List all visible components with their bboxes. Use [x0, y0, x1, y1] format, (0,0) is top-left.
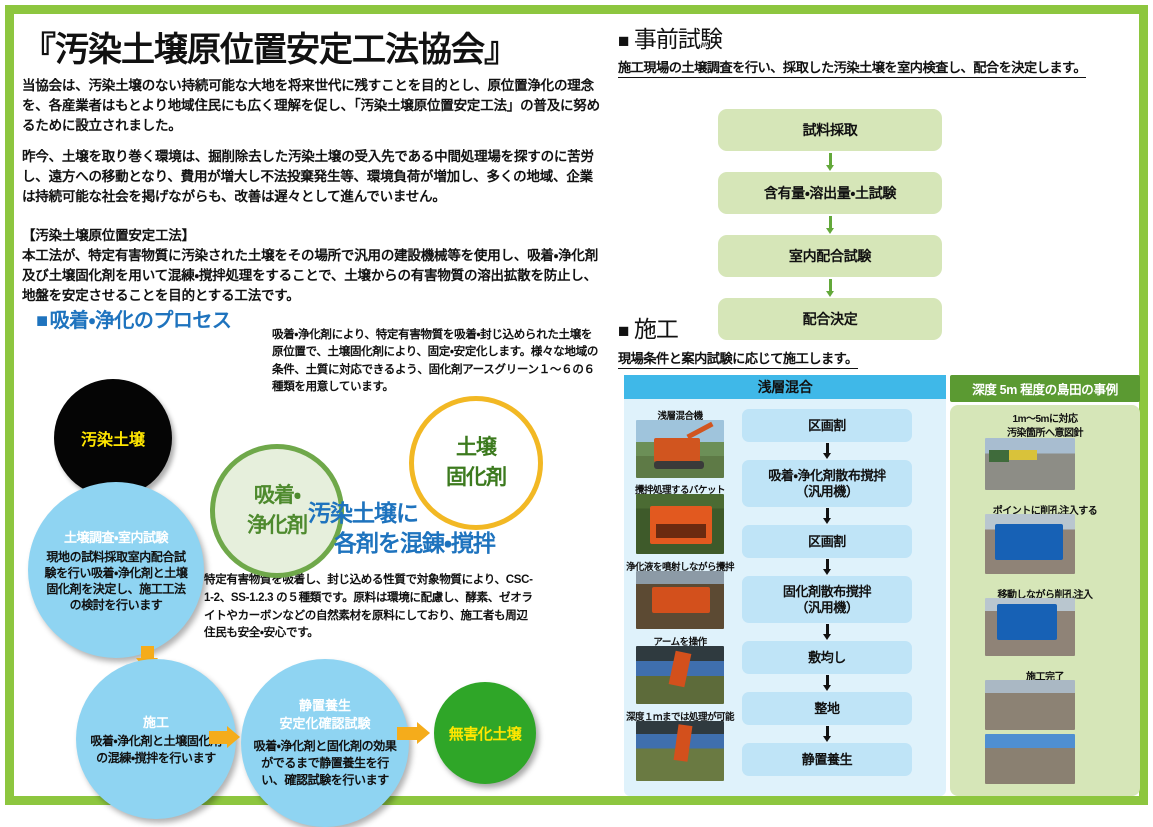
method-paragraph: 【汚染土壌原位置安定工法】 本工法が、特定有害物質に汚染された土壌をその場所で汎… — [22, 226, 600, 306]
construction-arrow-5 — [823, 675, 832, 691]
circle-soil-survey-body: 現地の試料採取室内配合試験を行い吸着・浄化剤と土壌固化剤を決定し、施工工法の検討… — [41, 549, 191, 614]
construction-arrow-4 — [823, 624, 832, 640]
deep-mixing-panel-title: 深度 5m 程度の島田の事例 — [950, 375, 1140, 402]
deep-photo-1 — [985, 438, 1075, 490]
square-bullet-icon: ■ — [618, 31, 628, 52]
ring-adsorbent-line1: 吸着・ — [254, 481, 300, 511]
circle-curing-heading-line1: 静置養生 — [299, 698, 351, 714]
shallow-photo-5 — [636, 721, 724, 781]
square-bullet-icon: ■ — [618, 321, 628, 342]
pretest-arrow-3 — [826, 279, 835, 298]
page-title: 『汚染土壌原位置安定工法協会』 — [22, 22, 517, 71]
shallow-photo-3 — [636, 571, 724, 629]
circle-construction-body: 吸着・浄化剤と土壌固化剤の混練・撹拌を行います — [89, 733, 223, 767]
mix-callout-line1: 汚染土壌に — [308, 500, 418, 526]
deep-photo-caption-1: 1m～5mに対応 — [970, 410, 1120, 425]
adsorbent-note: 特定有害物質を吸着し、封じ込める性質で対象物質により、CSC-1-2、SS-1.… — [204, 572, 534, 643]
construction-heading-label: 施工 — [634, 316, 678, 342]
construction-step-7: 静置養生 — [742, 743, 912, 776]
construction-step-4-line2: （汎用機） — [795, 600, 858, 616]
circle-soil-survey-heading: 土壌調査・室内試験 — [64, 527, 168, 546]
pretest-heading: ■ 事前試験 — [618, 20, 722, 54]
circle-soil-survey: 土壌調査・室内試験 現地の試料採取室内配合試験を行い吸着・浄化剤と土壌固化剤を決… — [28, 482, 204, 658]
construction-step-6-line1: 整地 — [814, 701, 839, 717]
process-heading-label: 吸着・浄化のプロセス — [50, 310, 232, 332]
construction-step-3: 区画割 — [742, 525, 912, 558]
circle-curing-heading-line2: 安定化確認試験 — [279, 716, 370, 732]
pretest-arrow-2 — [826, 216, 835, 235]
circle-curing-body: 吸着・浄化剤と固化剤の効果がでるまで静置養生を行い、確認試験を行います — [250, 738, 400, 788]
pretest-step-4: 配合決定 — [718, 298, 942, 340]
deep-photo-caption-2: 汚染箇所へ意図針 — [970, 424, 1120, 439]
pretest-step-3: 室内配合試験 — [718, 235, 942, 277]
ring-adsorbent-line2: 浄化剤 — [247, 511, 307, 541]
solidifier-note: 吸着・浄化剤により、特定有害物質を吸着・封じ込められた土壌を原位置で、土壌固化剤… — [272, 327, 602, 397]
construction-step-3-line1: 区画割 — [808, 534, 846, 550]
deep-photo-4 — [985, 680, 1075, 730]
intro-paragraph-1: 当協会は、汚染土壌のない持続可能な大地を将来世代に残すことを目的とし、原位置浄化… — [22, 76, 600, 136]
process-heading: ■吸着・浄化のプロセス — [36, 304, 231, 333]
construction-step-2-line1: 吸着・浄化剤散布撹拌 — [768, 468, 885, 484]
deep-photo-5 — [985, 734, 1075, 784]
right-column: ■ 事前試験 施工現場の土壌調査を行い、採取した汚染土壌を室内検査し、配合を決定… — [614, 14, 1139, 796]
pretest-step-1: 試料採取 — [718, 109, 942, 151]
construction-arrow-1 — [823, 443, 832, 459]
shallow-photo-2 — [636, 494, 724, 554]
shallow-mixing-panel-title: 浅層混合 — [624, 375, 946, 399]
content-area: 『汚染土壌原位置安定工法協会』 当協会は、汚染土壌のない持続可能な大地を将来世代… — [14, 14, 1139, 796]
circle-contaminated-soil-label: 汚染土壌 — [81, 426, 145, 450]
construction-step-6: 整地 — [742, 692, 912, 725]
shallow-photo-4 — [636, 646, 724, 704]
pretest-step-2: 含有量・溶出量・土試験 — [718, 172, 942, 214]
pretest-arrow-1 — [826, 153, 835, 172]
construction-arrow-6 — [823, 726, 832, 742]
left-column: 『汚染土壌原位置安定工法協会』 当協会は、汚染土壌のない持続可能な大地を将来世代… — [14, 14, 610, 796]
construction-step-4: 固化剤散布撹拌 （汎用機） — [742, 576, 912, 623]
circle-construction-heading: 施工 — [143, 712, 169, 731]
poster-page: 『汚染土壌原位置安定工法協会』 当協会は、汚染土壌のない持続可能な大地を将来世代… — [0, 0, 1153, 810]
circle-contaminated-soil: 汚染土壌 — [54, 379, 172, 497]
ring-solidifier-line2: 固化剤 — [446, 463, 506, 493]
circle-detoxified-soil-label: 無害化土壌 — [449, 723, 522, 744]
square-bullet-icon: ■ — [36, 310, 48, 332]
construction-step-2: 吸着・浄化剤散布撹拌 （汎用機） — [742, 460, 912, 507]
construction-step-5-line1: 敷均し — [808, 650, 846, 666]
construction-step-1-line1: 区画割 — [808, 418, 846, 434]
construction-step-1: 区画割 — [742, 409, 912, 442]
shallow-photo-1 — [636, 420, 724, 478]
construction-arrow-2 — [823, 508, 832, 524]
ring-solidifier-line1: 土壌 — [456, 433, 496, 463]
arrow-right-to-clean-soil — [397, 722, 433, 745]
construction-subheading: 現場条件と案内試験に応じて施工します。 — [618, 348, 858, 369]
circle-detoxified-soil: 無害化土壌 — [434, 682, 536, 784]
mix-callout: 汚染土壌に 各剤を混錬・撹拌 — [308, 499, 568, 559]
construction-arrow-3 — [823, 559, 832, 575]
pretest-heading-label: 事前試験 — [634, 26, 722, 52]
construction-step-7-line1: 静置養生 — [802, 752, 852, 768]
construction-step-4-line1: 固化剤散布撹拌 — [783, 584, 871, 600]
arrow-right-to-curing — [209, 726, 243, 749]
construction-step-5: 敷均し — [742, 641, 912, 674]
pretest-subheading: 施工現場の土壌調査を行い、採取した汚染土壌を室内検査し、配合を決定します。 — [618, 57, 1086, 78]
circle-curing: 静置養生 安定化確認試験 吸着・浄化剤と固化剤の効果がでるまで静置養生を行い、確… — [241, 659, 409, 827]
deep-photo-2 — [985, 514, 1075, 574]
construction-step-2-line2: （汎用機） — [795, 484, 858, 500]
construction-heading: ■ 施工 — [618, 310, 678, 344]
mix-callout-line2: 各剤を混錬・撹拌 — [308, 529, 568, 559]
intro-paragraph-2: 昨今、土壌を取り巻く環境は、掘削除去した汚染土壌の受入先である中間処理場を探すの… — [22, 147, 600, 207]
deep-photo-3 — [985, 598, 1075, 656]
